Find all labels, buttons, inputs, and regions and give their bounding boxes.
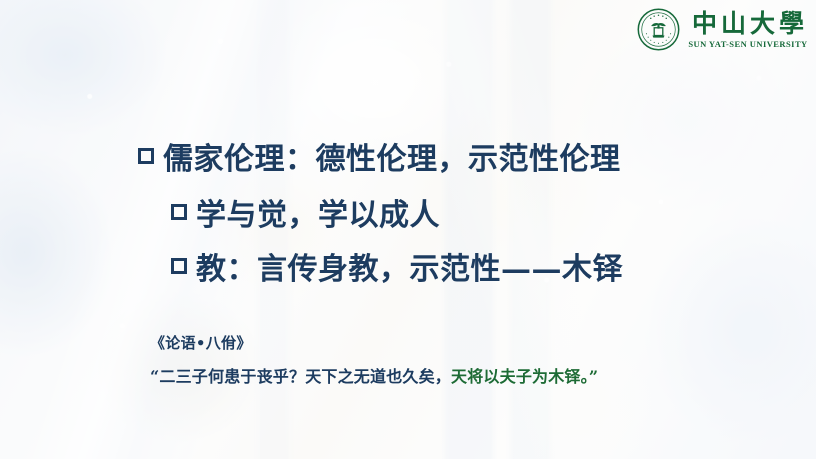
bullet-square-icon xyxy=(171,204,187,220)
bullet-item-1-text: 儒家伦理：德性伦理，示范性伦理 xyxy=(163,134,621,178)
slide-body: 儒家伦理：德性伦理，示范性伦理 学与觉，学以成人 教：言传身教，示范性——木铎 … xyxy=(0,0,816,459)
bullet-square-icon xyxy=(171,258,187,274)
source-citation: 《论语•八佾》 xyxy=(150,332,252,353)
bullet-item-3: 教：言传身教，示范性——木铎 xyxy=(171,244,623,288)
quotation-part-1: “二三子何患于丧乎？天下之无道也久矣， xyxy=(150,367,451,386)
bullet-item-1: 儒家伦理：德性伦理，示范性伦理 xyxy=(138,134,621,178)
bullet-item-2: 学与觉，学以成人 xyxy=(171,190,440,234)
presentation-slide: 中山大學 SUN YAT-SEN UNIVERSITY 儒家伦理：德性伦理，示范… xyxy=(0,0,816,459)
bullet-square-icon xyxy=(138,148,154,164)
bullet-item-2-text: 学与觉，学以成人 xyxy=(196,190,440,234)
bullet-item-3-text: 教：言传身教，示范性——木铎 xyxy=(196,244,623,288)
quotation: “二三子何患于丧乎？天下之无道也久矣，天将以夫子为木铎。” xyxy=(150,363,598,387)
quotation-part-2: 天将以夫子为木铎。” xyxy=(451,367,598,386)
